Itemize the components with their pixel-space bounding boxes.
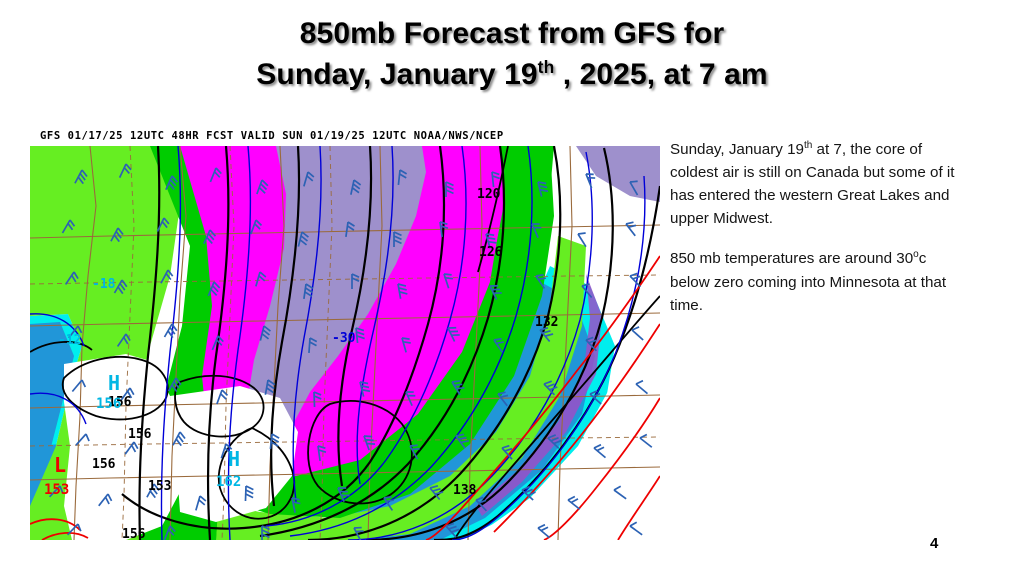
contour-label-138: 138 xyxy=(453,483,477,498)
page-number: 4 xyxy=(930,535,938,552)
title-line-2-pre: Sunday, January 19 xyxy=(256,58,537,91)
title-line-2: Sunday, January 19th , 2025, at 7 am xyxy=(0,55,1024,96)
contour-label-156-e: 153 xyxy=(148,479,171,494)
low-center-value: 153 xyxy=(44,482,69,498)
high-center-symbol-2: H xyxy=(228,447,240,471)
title-line-2-post: , 2025, at 7 am xyxy=(554,58,767,91)
slide-title: 850mb Forecast from GFS for Sunday, Janu… xyxy=(0,14,1024,96)
high-center-symbol-1: H xyxy=(108,371,120,395)
high-center-value-2: 162 xyxy=(216,474,241,490)
map-svg: 120 126 132 138 156 156 156 156 153 -30 … xyxy=(30,146,660,540)
note-1-pre: Sunday, January 19 xyxy=(670,141,804,158)
contour-label-126: 126 xyxy=(479,245,503,260)
map-content: 120 126 132 138 156 156 156 156 153 -30 … xyxy=(30,146,660,540)
temp-label-minus30: -30 xyxy=(332,331,356,346)
note-2-pre: 850 mb temperatures are around 30 xyxy=(670,251,913,268)
note-paragraph-1: Sunday, January 19th at 7, the core of c… xyxy=(670,138,970,230)
contour-label-120: 120 xyxy=(477,187,501,202)
title-ordinal-suffix: th xyxy=(538,57,555,77)
contour-label-156-b: 156 xyxy=(128,427,152,442)
temp-label-minus12: -12 xyxy=(58,333,81,348)
contour-label-132: 132 xyxy=(535,315,558,330)
paragraph-spacer xyxy=(670,230,970,247)
weather-map-panel: GFS 01/17/25 12UTC 48HR FCST VALID SUN 0… xyxy=(30,126,660,552)
low-center-symbol: L xyxy=(54,453,66,477)
explanation-text: Sunday, January 19th at 7, the core of c… xyxy=(670,138,970,317)
map-header-text: GFS 01/17/25 12UTC 48HR FCST VALID SUN 0… xyxy=(30,126,660,146)
note-paragraph-2: 850 mb temperatures are around 30oc belo… xyxy=(670,247,970,316)
temp-label-minus18: -18 xyxy=(92,277,116,292)
weather-map-figure: 120 126 132 138 156 156 156 156 153 -30 … xyxy=(30,146,660,540)
title-line-1: 850mb Forecast from GFS for xyxy=(0,14,1024,55)
high-center-value-1: 156 xyxy=(96,396,121,412)
contour-label-156-c: 156 xyxy=(92,457,116,472)
contour-label-156-d: 156 xyxy=(122,527,146,540)
